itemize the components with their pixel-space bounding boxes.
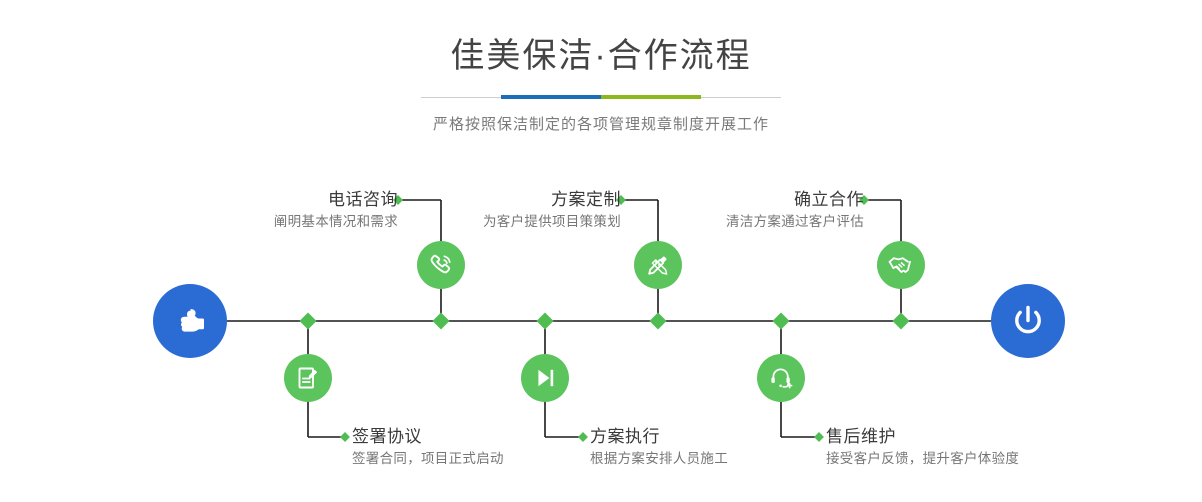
- step-title-6: 售后维护: [826, 427, 1019, 447]
- step-node-4[interactable]: [521, 354, 569, 402]
- flow-end-endpoint[interactable]: [991, 284, 1065, 358]
- diamond-marker-label-2: [340, 432, 350, 442]
- label-anchor-markers: [340, 195, 869, 442]
- step-label-2: 签署协议 签署合同，项目正式启动: [352, 427, 504, 469]
- power-icon: [1007, 300, 1049, 342]
- step-subtitle-3: 为客户提供项目策策划: [461, 212, 621, 232]
- flow-start-endpoint[interactable]: [153, 284, 227, 358]
- document-edit-icon: [294, 364, 322, 392]
- step-subtitle-2: 签署合同，项目正式启动: [352, 449, 504, 469]
- step-node-3[interactable]: [634, 241, 682, 289]
- phone-call-icon: [427, 251, 455, 279]
- step-node-2[interactable]: [284, 354, 332, 402]
- pencil-ruler-icon: [644, 251, 672, 279]
- step-subtitle-6: 接受客户反馈，提升客户体验度: [826, 449, 1019, 469]
- flow-diagram: 电话咨询 阐明基本情况和需求 签署协议 签署合同，项目正式启动: [0, 0, 1202, 502]
- diamond-marker-spine-2: [433, 313, 450, 330]
- step-title-3: 方案定制: [461, 190, 621, 210]
- headset-support-icon: [767, 364, 795, 392]
- step-title-2: 签署协议: [352, 427, 504, 447]
- pointing-hand-icon: [170, 301, 210, 341]
- diamond-marker-spine-5: [773, 313, 790, 330]
- step-node-6[interactable]: [757, 354, 805, 402]
- step-subtitle-1: 阐明基本情况和需求: [254, 212, 398, 232]
- step-subtitle-5: 清洁方案通过客户评估: [701, 212, 864, 232]
- diamond-marker-spine-4: [650, 313, 667, 330]
- step-subtitle-4: 根据方案安排人员施工: [590, 449, 728, 469]
- step-title-5: 确立合作: [701, 190, 864, 210]
- step-label-1: 电话咨询 阐明基本情况和需求: [254, 190, 398, 232]
- step-title-1: 电话咨询: [254, 190, 398, 210]
- step-node-5[interactable]: [877, 241, 925, 289]
- cooperation-flow-infographic: 佳美保洁·合作流程 严格按照保洁制定的各项管理规章制度开展工作: [0, 0, 1202, 502]
- diamond-marker-label-4: [578, 432, 588, 442]
- diamond-marker-spine-3: [537, 313, 554, 330]
- diamond-marker-spine-6: [893, 313, 910, 330]
- diamond-marker-label-6: [814, 432, 824, 442]
- step-label-3: 方案定制 为客户提供项目策策划: [461, 190, 621, 232]
- step-node-1[interactable]: [417, 241, 465, 289]
- diamond-marker-spine-1: [300, 313, 317, 330]
- step-title-4: 方案执行: [590, 427, 728, 447]
- handshake-icon: [886, 250, 916, 280]
- step-label-4: 方案执行 根据方案安排人员施工: [590, 427, 728, 469]
- step-label-6: 售后维护 接受客户反馈，提升客户体验度: [826, 427, 1019, 469]
- step-label-5: 确立合作 清洁方案通过客户评估: [701, 190, 864, 232]
- play-skip-icon: [531, 364, 559, 392]
